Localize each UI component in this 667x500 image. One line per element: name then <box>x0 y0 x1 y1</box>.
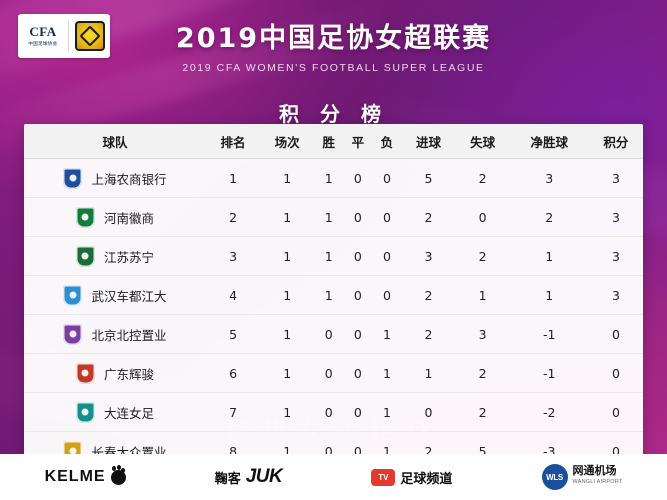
cell-rank: 6 <box>206 354 260 393</box>
cell-team: 武汉车都江大 <box>24 276 206 315</box>
cell-goals-for: 2 <box>401 198 455 237</box>
team-name-label: 河南徽商 <box>104 208 154 227</box>
team-name-label: 大连女足 <box>104 403 154 422</box>
standings-table-container: 球队 排名 场次 胜 平 负 进球 失球 净胜球 积分 上海农商银行111005… <box>24 124 643 470</box>
cell-goals-against: 2 <box>456 159 510 198</box>
sponsor-wls-cn-label: 网通机场 <box>573 466 623 477</box>
column-header-loss: 负 <box>372 124 401 159</box>
cell-points: 0 <box>589 393 643 432</box>
sponsor-tv: TV 足球频道 <box>371 468 452 487</box>
sponsor-kelme: KELME <box>45 468 126 486</box>
sponsor-kelme-label: KELME <box>45 468 106 486</box>
cell-rank: 7 <box>206 393 260 432</box>
cell-team: 北京北控置业 <box>24 315 206 354</box>
cell-draw: 0 <box>343 315 372 354</box>
team-crest-icon <box>76 402 95 423</box>
sponsor-juk: 鞠客 JUK <box>215 466 283 488</box>
cell-played: 1 <box>260 393 314 432</box>
cell-goal-diff: -1 <box>510 315 589 354</box>
cell-team: 江苏苏宁 <box>24 237 206 276</box>
cell-goal-diff: 1 <box>510 276 589 315</box>
team-name-label: 江苏苏宁 <box>104 247 154 266</box>
cell-win: 0 <box>314 354 343 393</box>
cell-played: 1 <box>260 198 314 237</box>
cell-loss: 0 <box>372 159 401 198</box>
cell-rank: 4 <box>206 276 260 315</box>
column-header-played: 场次 <box>260 124 314 159</box>
sponsor-juk-label: JUK <box>246 466 283 488</box>
cell-loss: 1 <box>372 354 401 393</box>
cell-goals-against: 3 <box>456 315 510 354</box>
team-cell: 武汉车都江大 <box>25 285 205 306</box>
cell-goals-for: 0 <box>401 393 455 432</box>
column-header-goals-against: 失球 <box>456 124 510 159</box>
cell-goals-against: 2 <box>456 237 510 276</box>
cell-goals-against: 0 <box>456 198 510 237</box>
cell-goals-against: 2 <box>456 354 510 393</box>
cell-win: 0 <box>314 315 343 354</box>
header: CFA 中国足球协会 2019中国足协女超联赛 2019 CFA WOMEN'S… <box>0 0 667 86</box>
team-crest-icon <box>76 363 95 384</box>
cfa-brand-sublabel: 中国足球协会 <box>28 40 57 46</box>
column-header-draw: 平 <box>343 124 372 159</box>
cell-points: 3 <box>589 159 643 198</box>
cell-goal-diff: -2 <box>510 393 589 432</box>
cell-points: 3 <box>589 237 643 276</box>
table-body: 上海农商银行111005233河南徽商211002023江苏苏宁31100321… <box>24 159 643 471</box>
cell-loss: 1 <box>372 393 401 432</box>
cell-loss: 0 <box>372 237 401 276</box>
cell-draw: 0 <box>343 159 372 198</box>
team-cell: 北京北控置业 <box>25 324 205 345</box>
table-row: 江苏苏宁311003213 <box>24 237 643 276</box>
cell-rank: 1 <box>206 159 260 198</box>
column-header-goals-for: 进球 <box>401 124 455 159</box>
column-header-points: 积分 <box>589 124 643 159</box>
cell-goals-for: 2 <box>401 276 455 315</box>
cell-goals-for: 5 <box>401 159 455 198</box>
cell-played: 1 <box>260 237 314 276</box>
cell-played: 1 <box>260 315 314 354</box>
cell-goals-for: 2 <box>401 315 455 354</box>
column-header-team: 球队 <box>24 124 206 159</box>
page-subtitle-en: 2019 CFA WOMEN'S FOOTBALL SUPER LEAGUE <box>0 62 667 74</box>
team-name-label: 北京北控置业 <box>91 325 166 344</box>
cell-points: 3 <box>589 276 643 315</box>
cell-goals-for: 1 <box>401 354 455 393</box>
shield-icon <box>75 21 105 51</box>
cell-draw: 0 <box>343 393 372 432</box>
sponsor-juk-cn-label: 鞠客 <box>215 468 241 487</box>
wls-icon: WLS <box>542 464 568 490</box>
sponsor-wls: WLS 网通机场 WANGLI AIRPORT <box>542 464 623 490</box>
team-name-label: 广东辉骏 <box>104 364 154 383</box>
cell-rank: 2 <box>206 198 260 237</box>
team-crest-icon <box>63 168 82 189</box>
sponsor-wls-text: 网通机场 WANGLI AIRPORT <box>573 466 623 488</box>
cell-goal-diff: -1 <box>510 354 589 393</box>
sponsor-wls-en-label: WANGLI AIRPORT <box>573 477 623 488</box>
cfa-brand-label: CFA <box>29 25 56 38</box>
cell-team: 大连女足 <box>24 393 206 432</box>
cell-draw: 0 <box>343 237 372 276</box>
cell-goals-against: 1 <box>456 276 510 315</box>
cell-draw: 0 <box>343 198 372 237</box>
cell-draw: 0 <box>343 354 372 393</box>
team-crest-icon <box>63 324 82 345</box>
cell-points: 3 <box>589 198 643 237</box>
tv-icon: TV <box>371 469 395 486</box>
cell-win: 1 <box>314 237 343 276</box>
column-header-goal-diff: 净胜球 <box>510 124 589 159</box>
cell-goals-against: 2 <box>456 393 510 432</box>
team-name-label: 上海农商银行 <box>91 169 166 188</box>
cell-team: 河南徽商 <box>24 198 206 237</box>
cell-win: 1 <box>314 198 343 237</box>
table-header-row: 球队 排名 场次 胜 平 负 进球 失球 净胜球 积分 <box>24 124 643 159</box>
cell-goal-diff: 1 <box>510 237 589 276</box>
team-crest-icon <box>76 246 95 267</box>
team-cell: 江苏苏宁 <box>25 246 205 267</box>
team-crest-icon <box>63 285 82 306</box>
cell-goals-for: 3 <box>401 237 455 276</box>
table-row: 广东辉骏6100112-10 <box>24 354 643 393</box>
cell-played: 1 <box>260 159 314 198</box>
cell-goal-diff: 2 <box>510 198 589 237</box>
team-cell: 上海农商银行 <box>25 168 205 189</box>
cell-draw: 0 <box>343 276 372 315</box>
cfa-logo: CFA 中国足球协会 <box>18 14 110 58</box>
table-row: 武汉车都江大411002113 <box>24 276 643 315</box>
cell-points: 0 <box>589 354 643 393</box>
table-row: 上海农商银行111005233 <box>24 159 643 198</box>
cell-loss: 1 <box>372 315 401 354</box>
paw-icon <box>111 470 126 485</box>
table-header: 球队 排名 场次 胜 平 负 进球 失球 净胜球 积分 <box>24 124 643 159</box>
section-title: 积 分 榜 <box>0 98 667 127</box>
poster-root: CFA 中国足球协会 2019中国足协女超联赛 2019 CFA WOMEN'S… <box>0 0 667 500</box>
footer-sponsors: KELME 鞠客 JUK TV 足球频道 WLS 网通机场 WANGLI AIR… <box>0 454 667 500</box>
sponsor-tv-label: 足球频道 <box>400 468 452 487</box>
cell-win: 1 <box>314 159 343 198</box>
column-header-rank: 排名 <box>206 124 260 159</box>
cell-points: 0 <box>589 315 643 354</box>
team-name-label: 武汉车都江大 <box>91 286 166 305</box>
team-cell: 大连女足 <box>25 402 205 423</box>
cfa-logo-text: CFA 中国足球协会 <box>18 25 68 47</box>
cell-win: 1 <box>314 276 343 315</box>
cell-played: 1 <box>260 354 314 393</box>
standings-table: 球队 排名 场次 胜 平 负 进球 失球 净胜球 积分 上海农商银行111005… <box>24 124 643 470</box>
cell-loss: 0 <box>372 198 401 237</box>
team-cell: 河南徽商 <box>25 207 205 228</box>
cell-team: 上海农商银行 <box>24 159 206 198</box>
table-row: 大连女足7100102-20 <box>24 393 643 432</box>
cell-goal-diff: 3 <box>510 159 589 198</box>
league-badge-wrap <box>69 21 110 51</box>
cell-win: 0 <box>314 393 343 432</box>
table-row: 河南徽商211002023 <box>24 198 643 237</box>
cell-rank: 5 <box>206 315 260 354</box>
cell-team: 广东辉骏 <box>24 354 206 393</box>
team-crest-icon <box>76 207 95 228</box>
cell-rank: 3 <box>206 237 260 276</box>
table-row: 北京北控置业5100123-10 <box>24 315 643 354</box>
cell-loss: 0 <box>372 276 401 315</box>
column-header-win: 胜 <box>314 124 343 159</box>
team-cell: 广东辉骏 <box>25 363 205 384</box>
cell-played: 1 <box>260 276 314 315</box>
